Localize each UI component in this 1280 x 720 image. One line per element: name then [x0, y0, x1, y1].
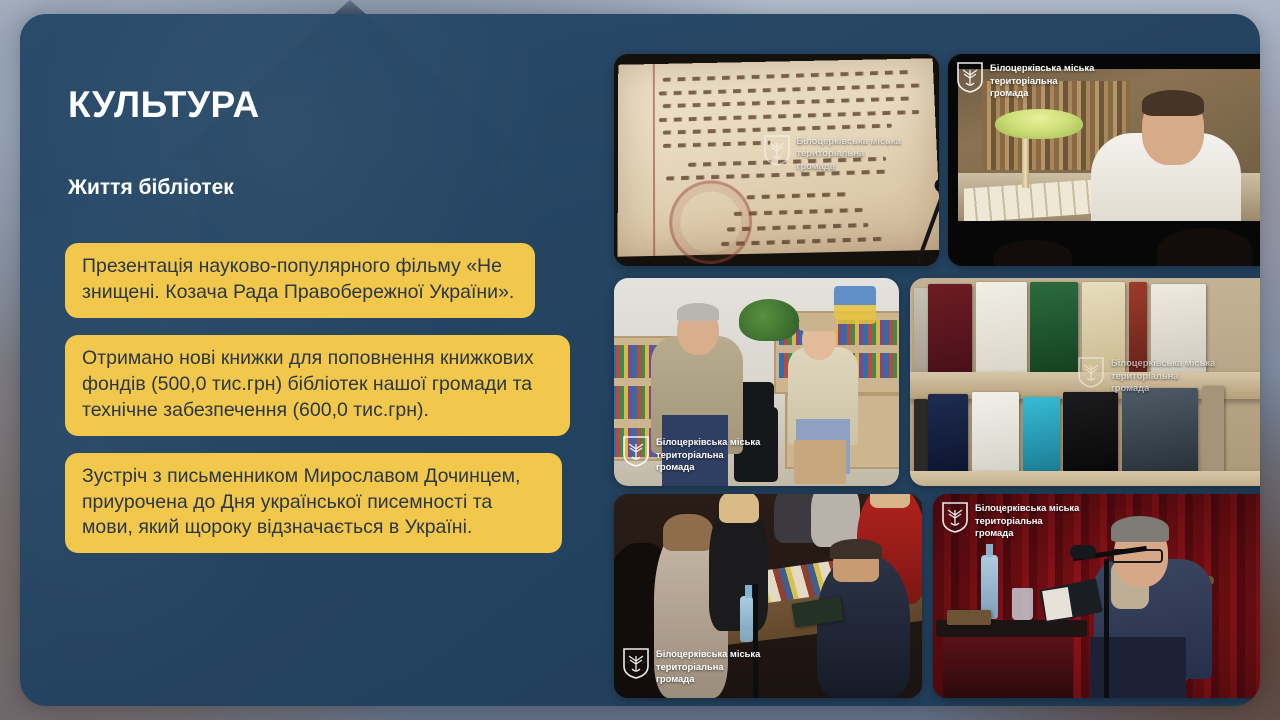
presentation-slide: КУЛЬТУРА Життя бібліотек Презентація нау…	[0, 0, 1280, 720]
slide-content-panel: КУЛЬТУРА Життя бібліотек Презентація нау…	[20, 14, 1260, 706]
callout-list: Презентація науково-популярного фільму «…	[65, 243, 570, 570]
photo-author-reading-content	[933, 494, 1260, 698]
photo-grid: Білоцерківська міська територіальна гром…	[614, 54, 1260, 700]
photo-new-books-display-content	[910, 278, 1260, 486]
photo-author-reading: Білоцерківська міська територіальна гром…	[933, 494, 1260, 698]
page-title: КУЛЬТУРА	[68, 86, 260, 123]
photo-film-screening-content	[948, 54, 1260, 266]
page-subtitle: Життя бібліотек	[68, 177, 234, 198]
callout-writer-meeting: Зустріч з письменником Мирославом Дочинц…	[65, 453, 562, 554]
left-text-column: КУЛЬТУРА Життя бібліотек Презентація нау…	[48, 44, 578, 684]
photo-archival-document: Білоцерківська міська територіальна гром…	[614, 54, 939, 266]
photo-archival-document-content	[614, 54, 939, 266]
photo-film-screening: Білоцерківська міська територіальна гром…	[948, 54, 1260, 266]
callout-new-books-funding: Отримано нові книжки для поповнення книж…	[65, 335, 570, 436]
photo-library-meeting-content	[614, 278, 899, 486]
callout-film-presentation: Презентація науково-популярного фільму «…	[65, 243, 535, 318]
photo-book-signing: Білоцерківська міська територіальна гром…	[614, 494, 922, 698]
photo-library-meeting: Білоцерківська міська територіальна гром…	[614, 278, 899, 486]
photo-new-books-display: Білоцерківська міська територіальна гром…	[910, 278, 1260, 486]
photo-book-signing-content	[614, 494, 922, 698]
